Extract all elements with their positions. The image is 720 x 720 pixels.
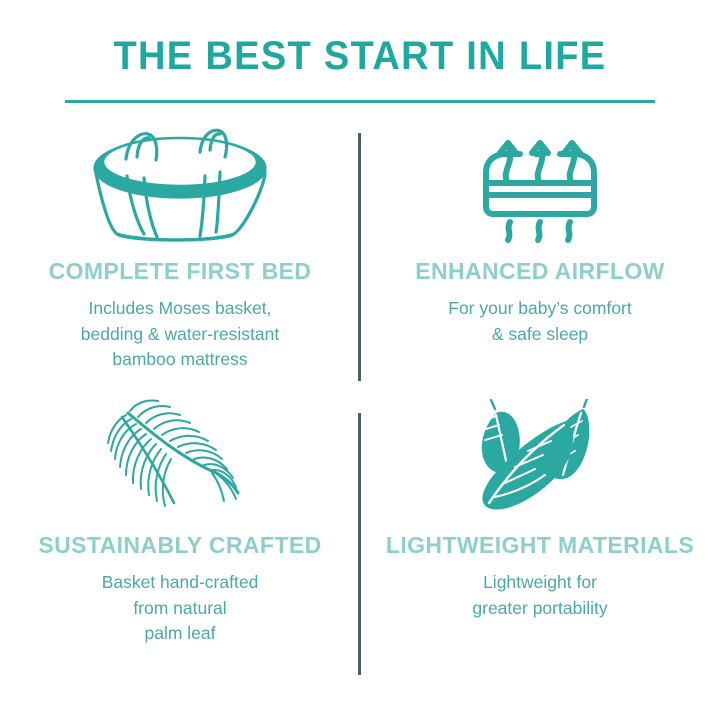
desc-line: Includes Moses basket,: [81, 296, 279, 321]
feature-description: For your baby’s comfort & safe sleep: [448, 296, 632, 347]
poster-header: THE BEST START IN LIFE: [0, 0, 720, 103]
desc-line: from natural: [102, 596, 259, 621]
feature-title: SUSTAINABLY CRAFTED: [38, 533, 321, 558]
desc-line: & safe sleep: [448, 322, 632, 347]
palm-leaf-icon: [100, 395, 260, 519]
desc-line: greater portability: [472, 596, 607, 621]
moses-basket-icon: [82, 121, 278, 245]
title-divider: [65, 100, 655, 103]
feature-lightweight-materials: LIGHTWEIGHT MATERIALS Lightweight for gr…: [360, 395, 720, 669]
feature-poster: THE BEST START IN LIFE: [0, 0, 720, 720]
feathers-icon: [465, 395, 615, 519]
feature-description: Basket hand-crafted from natural palm le…: [102, 570, 259, 646]
vertical-divider-bottom: [358, 413, 361, 675]
desc-line: For your baby’s comfort: [448, 296, 632, 321]
feature-title: COMPLETE FIRST BED: [49, 259, 312, 284]
feature-complete-first-bed: COMPLETE FIRST BED Includes Moses basket…: [0, 121, 360, 395]
desc-line: palm leaf: [102, 621, 259, 646]
feature-enhanced-airflow: ENHANCED AIRFLOW For your baby’s comfort…: [360, 121, 720, 395]
page-title: THE BEST START IN LIFE: [18, 36, 702, 76]
feature-description: Includes Moses basket, bedding & water-r…: [81, 296, 279, 372]
desc-line: Basket hand-crafted: [102, 570, 259, 595]
desc-line: bamboo mattress: [81, 347, 279, 372]
vertical-divider-top: [358, 133, 361, 381]
feature-title: ENHANCED AIRFLOW: [415, 259, 665, 284]
desc-line: Lightweight for: [472, 570, 607, 595]
mattress-airflow-icon: [474, 121, 606, 245]
feature-title: LIGHTWEIGHT MATERIALS: [386, 533, 694, 558]
feature-grid: COMPLETE FIRST BED Includes Moses basket…: [0, 121, 720, 669]
feature-sustainably-crafted: SUSTAINABLY CRAFTED Basket hand-crafted …: [0, 395, 360, 669]
feature-description: Lightweight for greater portability: [472, 570, 607, 621]
desc-line: bedding & water-resistant: [81, 322, 279, 347]
